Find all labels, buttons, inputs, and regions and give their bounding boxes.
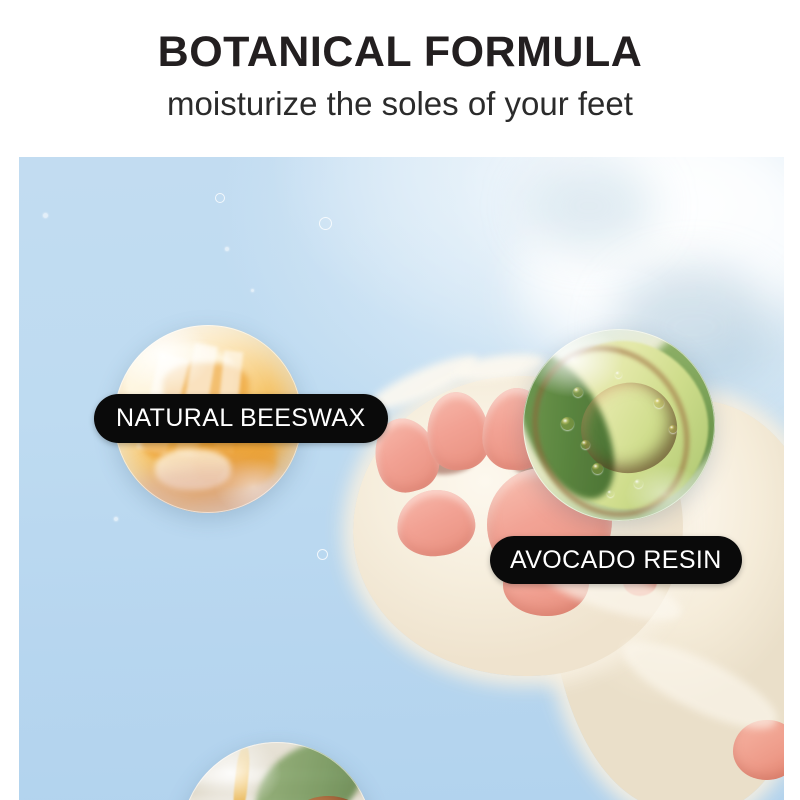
cloud-shadow xyxy=(524,161,654,251)
label-natural-beeswax[interactable]: NATURAL BEESWAX xyxy=(94,394,388,443)
bubble-ring xyxy=(319,217,332,230)
wax-base-tint xyxy=(133,464,287,513)
product-photo: NATURAL BEESWAX AVOCADO RESIN JOJOBA SEE… xyxy=(19,157,784,800)
jojoba-sphere xyxy=(181,742,373,800)
water-droplet xyxy=(581,440,590,449)
paw-far-toe-bean xyxy=(733,720,784,780)
bubble-ring xyxy=(215,193,225,203)
poster-root: BOTANICAL FORMULA moisturize the soles o… xyxy=(0,0,800,800)
water-droplet xyxy=(573,387,583,397)
water-droplet xyxy=(654,398,664,408)
page-title: BOTANICAL FORMULA xyxy=(158,31,643,74)
label-text: NATURAL BEESWAX xyxy=(116,404,366,433)
water-droplet xyxy=(225,247,229,251)
water-droplet xyxy=(251,289,254,292)
water-droplet xyxy=(43,213,48,218)
header: BOTANICAL FORMULA moisturize the soles o… xyxy=(0,0,800,157)
avocado-sphere xyxy=(523,329,715,521)
label-avocado-resin[interactable]: AVOCADO RESIN xyxy=(490,536,742,584)
paw-toe-bean xyxy=(423,389,493,473)
toe-crease xyxy=(426,455,474,477)
cloud-highlight xyxy=(524,157,784,347)
paw-toe-bean xyxy=(394,486,478,560)
water-droplet xyxy=(114,517,118,521)
water-droplet xyxy=(669,425,677,433)
fur-wisp xyxy=(613,625,784,744)
page-subtitle: moisturize the soles of your feet xyxy=(167,87,633,120)
label-text: AVOCADO RESIN xyxy=(510,546,722,575)
bubble-ring xyxy=(317,549,328,560)
